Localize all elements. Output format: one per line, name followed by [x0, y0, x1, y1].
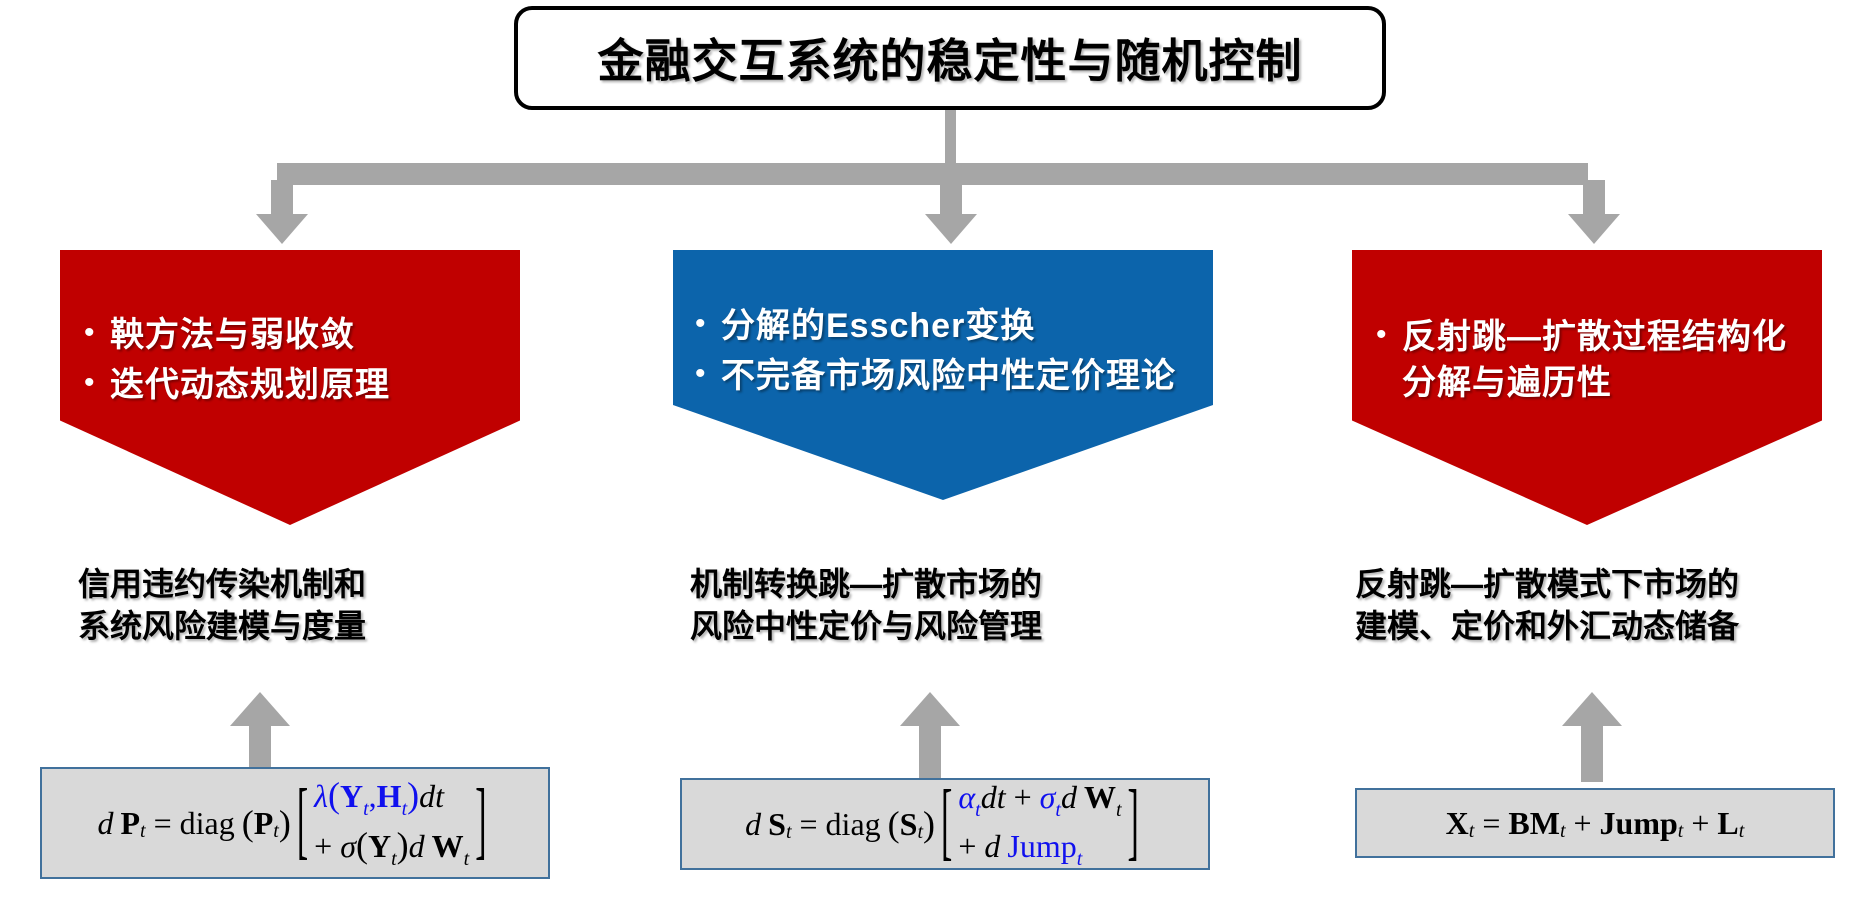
banner-bullet-item: • 分解的Esscher变换: [695, 303, 1197, 349]
formula-center-equation: d St = diag (St) [ αtdt + σtdWt + dJumpt…: [745, 775, 1145, 873]
caption-line: 机制转换跳—扩散市场的: [690, 563, 1160, 605]
branch-caption-right: 反射跳—扩散模式下市场的 建模、定价和外汇动态储备: [1355, 563, 1825, 647]
caption-line: 建模、定价和外汇动态储备: [1355, 605, 1825, 647]
banner-bullet-item: • 迭代动态规划原理: [84, 362, 502, 408]
bullet-dot-icon: •: [1376, 314, 1402, 356]
bullet-label: 反射跳—扩散过程结构化分解与遍历性: [1402, 314, 1804, 406]
branch-banner-right: • 反射跳—扩散过程结构化分解与遍历性: [1352, 250, 1822, 525]
page-title: 金融交互系统的稳定性与随机控制: [598, 25, 1303, 91]
bullet-label: 不完备市场风险中性定价理论: [721, 353, 1176, 399]
branch-caption-left: 信用违约传染机制和 系统风险建模与度量: [78, 563, 498, 647]
bullet-label: 迭代动态规划原理: [110, 362, 390, 408]
banner-bullet-item: • 鞅方法与弱收敛: [84, 312, 502, 358]
formula-box-center: d St = diag (St) [ αtdt + σtdWt + dJumpt…: [680, 778, 1210, 870]
branch-caption-center: 机制转换跳—扩散市场的 风险中性定价与风险管理: [690, 563, 1160, 647]
caption-line: 系统风险建模与度量: [78, 605, 498, 647]
formula-right-equation: Xt = BMt + Jumpt + Lt: [1446, 805, 1745, 842]
bullet-dot-icon: •: [84, 312, 110, 354]
diagram-title-box: 金融交互系统的稳定性与随机控制: [514, 6, 1386, 110]
connector-drop-right: [1583, 180, 1605, 216]
connector-arrow-left: [256, 214, 308, 244]
formula-box-left: d Pt = diag (Pt) [ λ(Yt,Ht)dt + σ(Yt)dWt…: [40, 767, 550, 879]
formula-uparrow-center: [900, 692, 960, 782]
banner-bullet-item: • 不完备市场风险中性定价理论: [695, 353, 1197, 399]
connector-stem-top: [945, 110, 956, 170]
banner-bullet-item: • 反射跳—扩散过程结构化分解与遍历性: [1376, 314, 1804, 406]
caption-line: 信用违约传染机制和: [78, 563, 498, 605]
connector-drop-left: [271, 180, 293, 216]
bullet-dot-icon: •: [84, 362, 110, 404]
arrow-head-icon: [230, 692, 290, 726]
branch-banner-left: • 鞅方法与弱收敛 • 迭代动态规划原理: [60, 250, 520, 525]
connector-arrow-center: [925, 214, 977, 244]
arrow-stem: [1581, 725, 1603, 782]
bullet-dot-icon: •: [695, 353, 721, 395]
formula-left-equation: d Pt = diag (Pt) [ λ(Yt,Ht)dt + σ(Yt)dWt…: [97, 773, 492, 873]
bullet-dot-icon: •: [695, 303, 721, 345]
formula-box-right: Xt = BMt + Jumpt + Lt: [1355, 788, 1835, 858]
bullet-label: 鞅方法与弱收敛: [110, 312, 355, 358]
arrow-head-icon: [1562, 692, 1622, 726]
formula-uparrow-right: [1562, 692, 1622, 782]
connector-arrow-right: [1568, 214, 1620, 244]
connector-drop-center: [940, 180, 962, 216]
caption-line: 反射跳—扩散模式下市场的: [1355, 563, 1825, 605]
arrow-stem: [919, 725, 941, 782]
branch-banner-center: • 分解的Esscher变换 • 不完备市场风险中性定价理论: [673, 250, 1213, 500]
arrow-head-icon: [900, 692, 960, 726]
connector-horizontal-bar: [277, 163, 1588, 185]
bullet-label: 分解的Esscher变换: [721, 303, 1035, 349]
caption-line: 风险中性定价与风险管理: [690, 605, 1160, 647]
